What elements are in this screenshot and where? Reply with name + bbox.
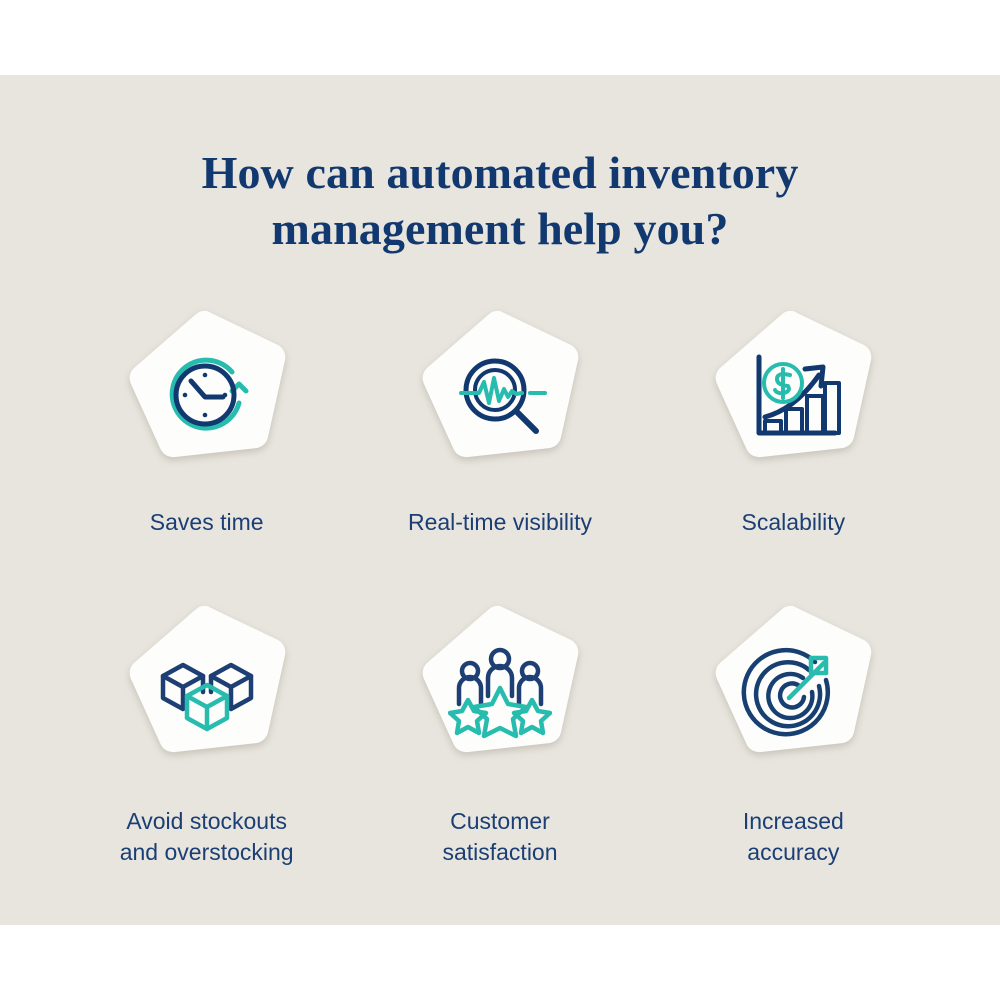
magnifier-pulse-icon — [448, 345, 552, 449]
benefit-label-customer-satisfaction: Customer satisfaction — [442, 806, 557, 868]
three-cubes-icon — [155, 640, 259, 744]
benefit-card-saves-time[interactable]: Saves time — [60, 305, 353, 538]
benefits-grid: Saves time — [60, 305, 940, 868]
badge-increased-accuracy — [701, 600, 885, 784]
badge-real-time-visibility — [408, 305, 592, 489]
benefit-card-scalability[interactable]: Scalability — [647, 305, 940, 538]
badge-scalability — [701, 305, 885, 489]
benefit-label-avoid-stockouts: Avoid stockouts and overstocking — [120, 806, 294, 868]
page-title-line-1: How can automated inventory — [0, 145, 1000, 201]
clock-refresh-icon — [155, 345, 259, 449]
benefit-label-saves-time: Saves time — [150, 507, 264, 538]
benefit-card-avoid-stockouts[interactable]: Avoid stockouts and overstocking — [60, 600, 353, 868]
people-stars-rating-icon — [448, 640, 552, 744]
benefit-card-real-time-visibility[interactable]: Real-time visibility — [353, 305, 646, 538]
page-title-line-2: management help you? — [0, 201, 1000, 257]
badge-avoid-stockouts — [115, 600, 299, 784]
benefit-card-increased-accuracy[interactable]: Increased accuracy — [647, 600, 940, 868]
benefit-label-increased-accuracy: Increased accuracy — [743, 806, 844, 868]
benefit-card-customer-satisfaction[interactable]: Customer satisfaction — [353, 600, 646, 868]
infographic-root: How can automated inventory management h… — [0, 0, 1000, 1000]
page-title: How can automated inventory management h… — [0, 145, 1000, 257]
badge-customer-satisfaction — [408, 600, 592, 784]
benefit-label-real-time-visibility: Real-time visibility — [408, 507, 592, 538]
badge-saves-time — [115, 305, 299, 489]
benefit-label-scalability: Scalability — [742, 507, 846, 538]
target-arrow-icon — [741, 640, 845, 744]
bar-chart-growth-dollar-icon — [741, 345, 845, 449]
